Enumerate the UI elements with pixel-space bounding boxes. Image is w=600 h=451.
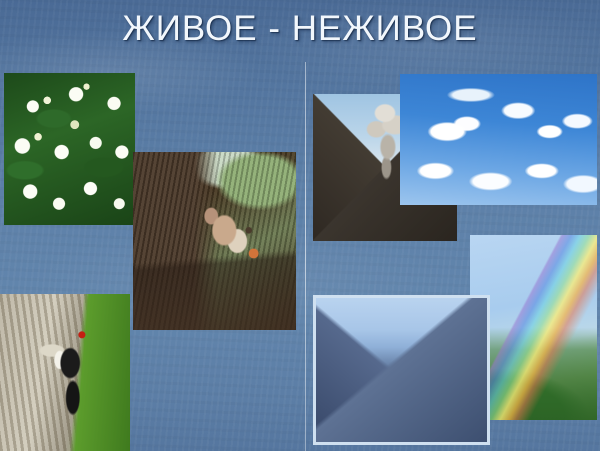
page-title: ЖИВОЕ - НЕЖИВОЕ (0, 8, 600, 50)
photo-woodpecker (0, 294, 130, 451)
photo-squirrel (133, 152, 296, 330)
presentation-slide: ЖИВОЕ - НЕЖИВОЕ (0, 0, 600, 451)
template-vertical-rule (305, 62, 306, 451)
photo-clouds (400, 74, 597, 205)
photo-flowers (4, 73, 135, 225)
photo-mountain (313, 295, 490, 445)
